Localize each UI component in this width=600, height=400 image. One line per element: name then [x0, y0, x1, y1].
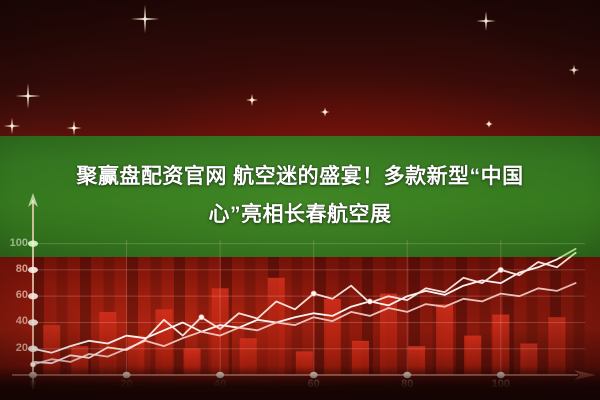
chart-bar — [520, 343, 537, 375]
chart-bar — [324, 299, 341, 375]
y-axis-tick-dot — [28, 267, 38, 273]
chart-bar — [184, 349, 201, 375]
chart-bar — [352, 341, 369, 375]
chart-bar — [408, 346, 425, 375]
x-axis-tick-dot — [29, 372, 37, 378]
page-title: 聚赢盘配资官网 航空迷的盛宴！多款新型“中国 心”亮相长春航空展 — [0, 158, 600, 234]
headline-line-1: 聚赢盘配资官网 航空迷的盛宴！多款新型“中国 — [8, 158, 592, 196]
data-point-marker — [367, 299, 372, 304]
data-point-marker — [30, 362, 35, 367]
x-axis-tick-dot — [123, 372, 131, 378]
x-axis-tick-dot — [497, 372, 505, 378]
banner-image: 20406080100020406080100 聚赢盘配资官网 航空迷的盛宴！多… — [0, 0, 600, 400]
y-axis-tick-dot — [28, 319, 38, 325]
chart-bar — [436, 304, 453, 375]
data-point-marker — [311, 291, 316, 296]
chart-bar — [548, 317, 565, 375]
data-point-marker — [498, 267, 503, 272]
x-axis-tick-dot — [310, 372, 318, 378]
x-axis-tick-dot — [403, 372, 411, 378]
chart-bar — [464, 336, 481, 375]
y-axis-tick-dot — [28, 346, 38, 352]
background-stripe — [33, 257, 44, 375]
headline-line-2: 心”亮相长春航空展 — [8, 196, 592, 234]
background-stripe — [174, 257, 185, 375]
background-stripe — [574, 257, 585, 375]
chart-bar — [268, 278, 285, 375]
chart-bar — [240, 338, 257, 375]
top-dark-band — [0, 0, 600, 136]
data-point-marker — [199, 315, 204, 320]
x-axis-tick-dot — [216, 372, 224, 378]
chart-bar — [296, 351, 313, 375]
y-axis-tick-dot — [28, 240, 38, 246]
y-axis-tick-dot — [28, 293, 38, 299]
